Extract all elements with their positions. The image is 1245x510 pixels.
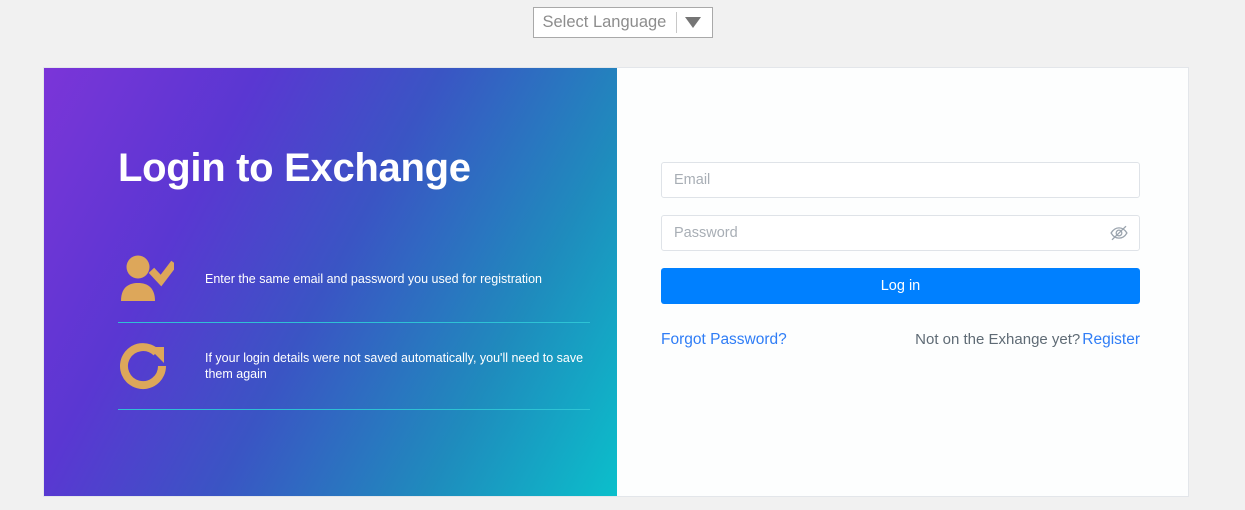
feature-text: Enter the same email and password you us… [180, 271, 542, 287]
feature-item-save-details: If your login details were not saved aut… [118, 323, 590, 409]
eye-slash-icon[interactable] [1107, 221, 1131, 245]
promo-content: Login to Exchange Enter the same email a… [118, 68, 590, 410]
email-field[interactable] [661, 162, 1140, 198]
password-field[interactable] [661, 215, 1140, 251]
register-prompt-text: Not on the Exhange yet? [915, 331, 1080, 348]
login-card: Login to Exchange Enter the same email a… [43, 67, 1189, 497]
email-field-wrapper [661, 162, 1140, 198]
language-bar: Select Language [0, 0, 1245, 45]
feature-divider [118, 322, 590, 323]
chevron-down-icon[interactable] [677, 8, 709, 37]
feature-list: Enter the same email and password you us… [118, 188, 590, 410]
feature-text: If your login details were not saved aut… [180, 350, 590, 383]
form-links-row: Forgot Password? Not on the Exhange yet?… [661, 331, 1140, 349]
register-prompt-wrapper: Not on the Exhange yet?Register [915, 331, 1140, 349]
language-select-label: Select Language [534, 8, 677, 37]
login-form: Log in Forgot Password? Not on the Exhan… [661, 162, 1140, 349]
promo-panel: Login to Exchange Enter the same email a… [44, 68, 617, 496]
login-button[interactable]: Log in [661, 268, 1140, 304]
feature-item-registration: Enter the same email and password you us… [118, 236, 590, 322]
forgot-password-link[interactable]: Forgot Password? [661, 331, 787, 349]
feature-divider [118, 409, 590, 410]
user-check-icon [118, 254, 180, 304]
caret-shape [685, 17, 701, 28]
page-title: Login to Exchange [118, 68, 590, 188]
register-link[interactable]: Register [1082, 331, 1140, 348]
password-field-wrapper [661, 215, 1140, 251]
language-select[interactable]: Select Language [533, 7, 713, 38]
refresh-redo-icon [118, 339, 180, 393]
login-form-panel: Log in Forgot Password? Not on the Exhan… [617, 68, 1188, 496]
